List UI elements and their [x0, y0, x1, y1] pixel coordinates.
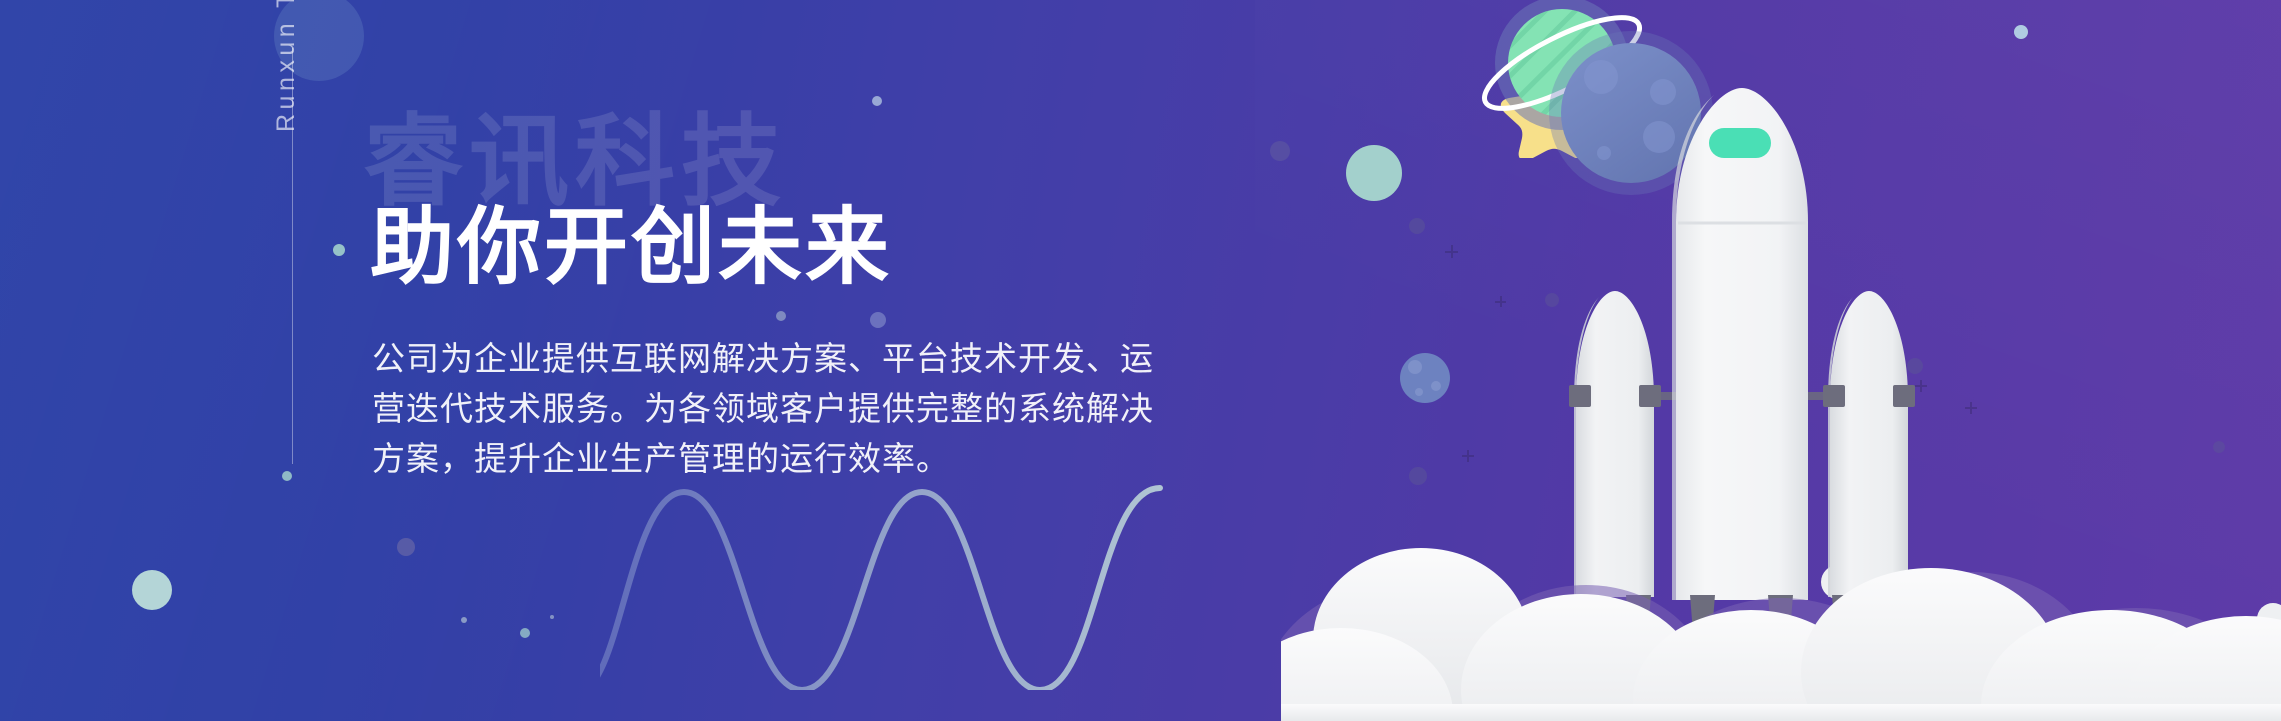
decor-dot [132, 570, 172, 610]
decor-dot [2213, 441, 2225, 453]
rocket-main-body [1672, 88, 1808, 600]
decor-dot [872, 96, 882, 106]
decor-dot [2014, 25, 2028, 39]
decor-dot [1414, 583, 1420, 589]
small-planet [1400, 353, 1450, 403]
decor-sparkle-icon [1445, 245, 1458, 258]
rocket-nozzles [1626, 595, 1857, 645]
decor-dot [397, 538, 415, 556]
five-point-star-icon [1495, 48, 1615, 158]
small-planet-craters [1408, 360, 1441, 396]
decor-dot [1907, 358, 1923, 374]
decor-sparkle-icon [1965, 402, 1977, 414]
decor-dot [1270, 141, 1290, 161]
rocket-window [1709, 128, 1771, 158]
decor-dot [1418, 601, 1458, 641]
banner-description: 公司为企业提供互联网解决方案、平台技术开发、运营迭代技术服务。为各领域客户提供完… [372, 334, 1162, 484]
decor-sparkle-icon [1462, 450, 1474, 462]
decor-dot [520, 628, 530, 638]
decor-sparkle-icon [1495, 296, 1506, 307]
brand-vertical-label: Runxun Techlology [272, 0, 301, 132]
rocket-flames [1630, 640, 1853, 718]
decor-dot [776, 311, 786, 321]
sine-wave-graphic [600, 450, 1300, 690]
watermark-company-name: 睿讯科技 [363, 112, 787, 212]
decor-dot [1346, 145, 1402, 201]
decor-dot [282, 471, 292, 481]
page-title: 助你开创未来 [370, 202, 892, 293]
decor-dot [1409, 218, 1425, 234]
decor-dot [461, 617, 467, 623]
decor-dot [550, 615, 554, 619]
decor-dot [1821, 565, 1855, 599]
decor-dot [333, 244, 345, 256]
decor-dot [870, 312, 886, 328]
background-sheen-right [1255, 0, 2281, 721]
exhaust-clouds [1281, 548, 2281, 721]
decor-dot [1409, 467, 1427, 485]
rocket-booster-right [1804, 291, 1915, 597]
rocket-illustration [1281, 0, 2281, 721]
decor-dot [2257, 603, 2281, 635]
hero-banner: Runxun Techlology 睿讯科技 助你开创未来 公司为企业提供互联网… [0, 0, 2281, 721]
decor-sparkle-icon [1915, 380, 1927, 392]
decor-dot [1545, 293, 1559, 307]
rocket-booster-left [1569, 291, 1680, 597]
